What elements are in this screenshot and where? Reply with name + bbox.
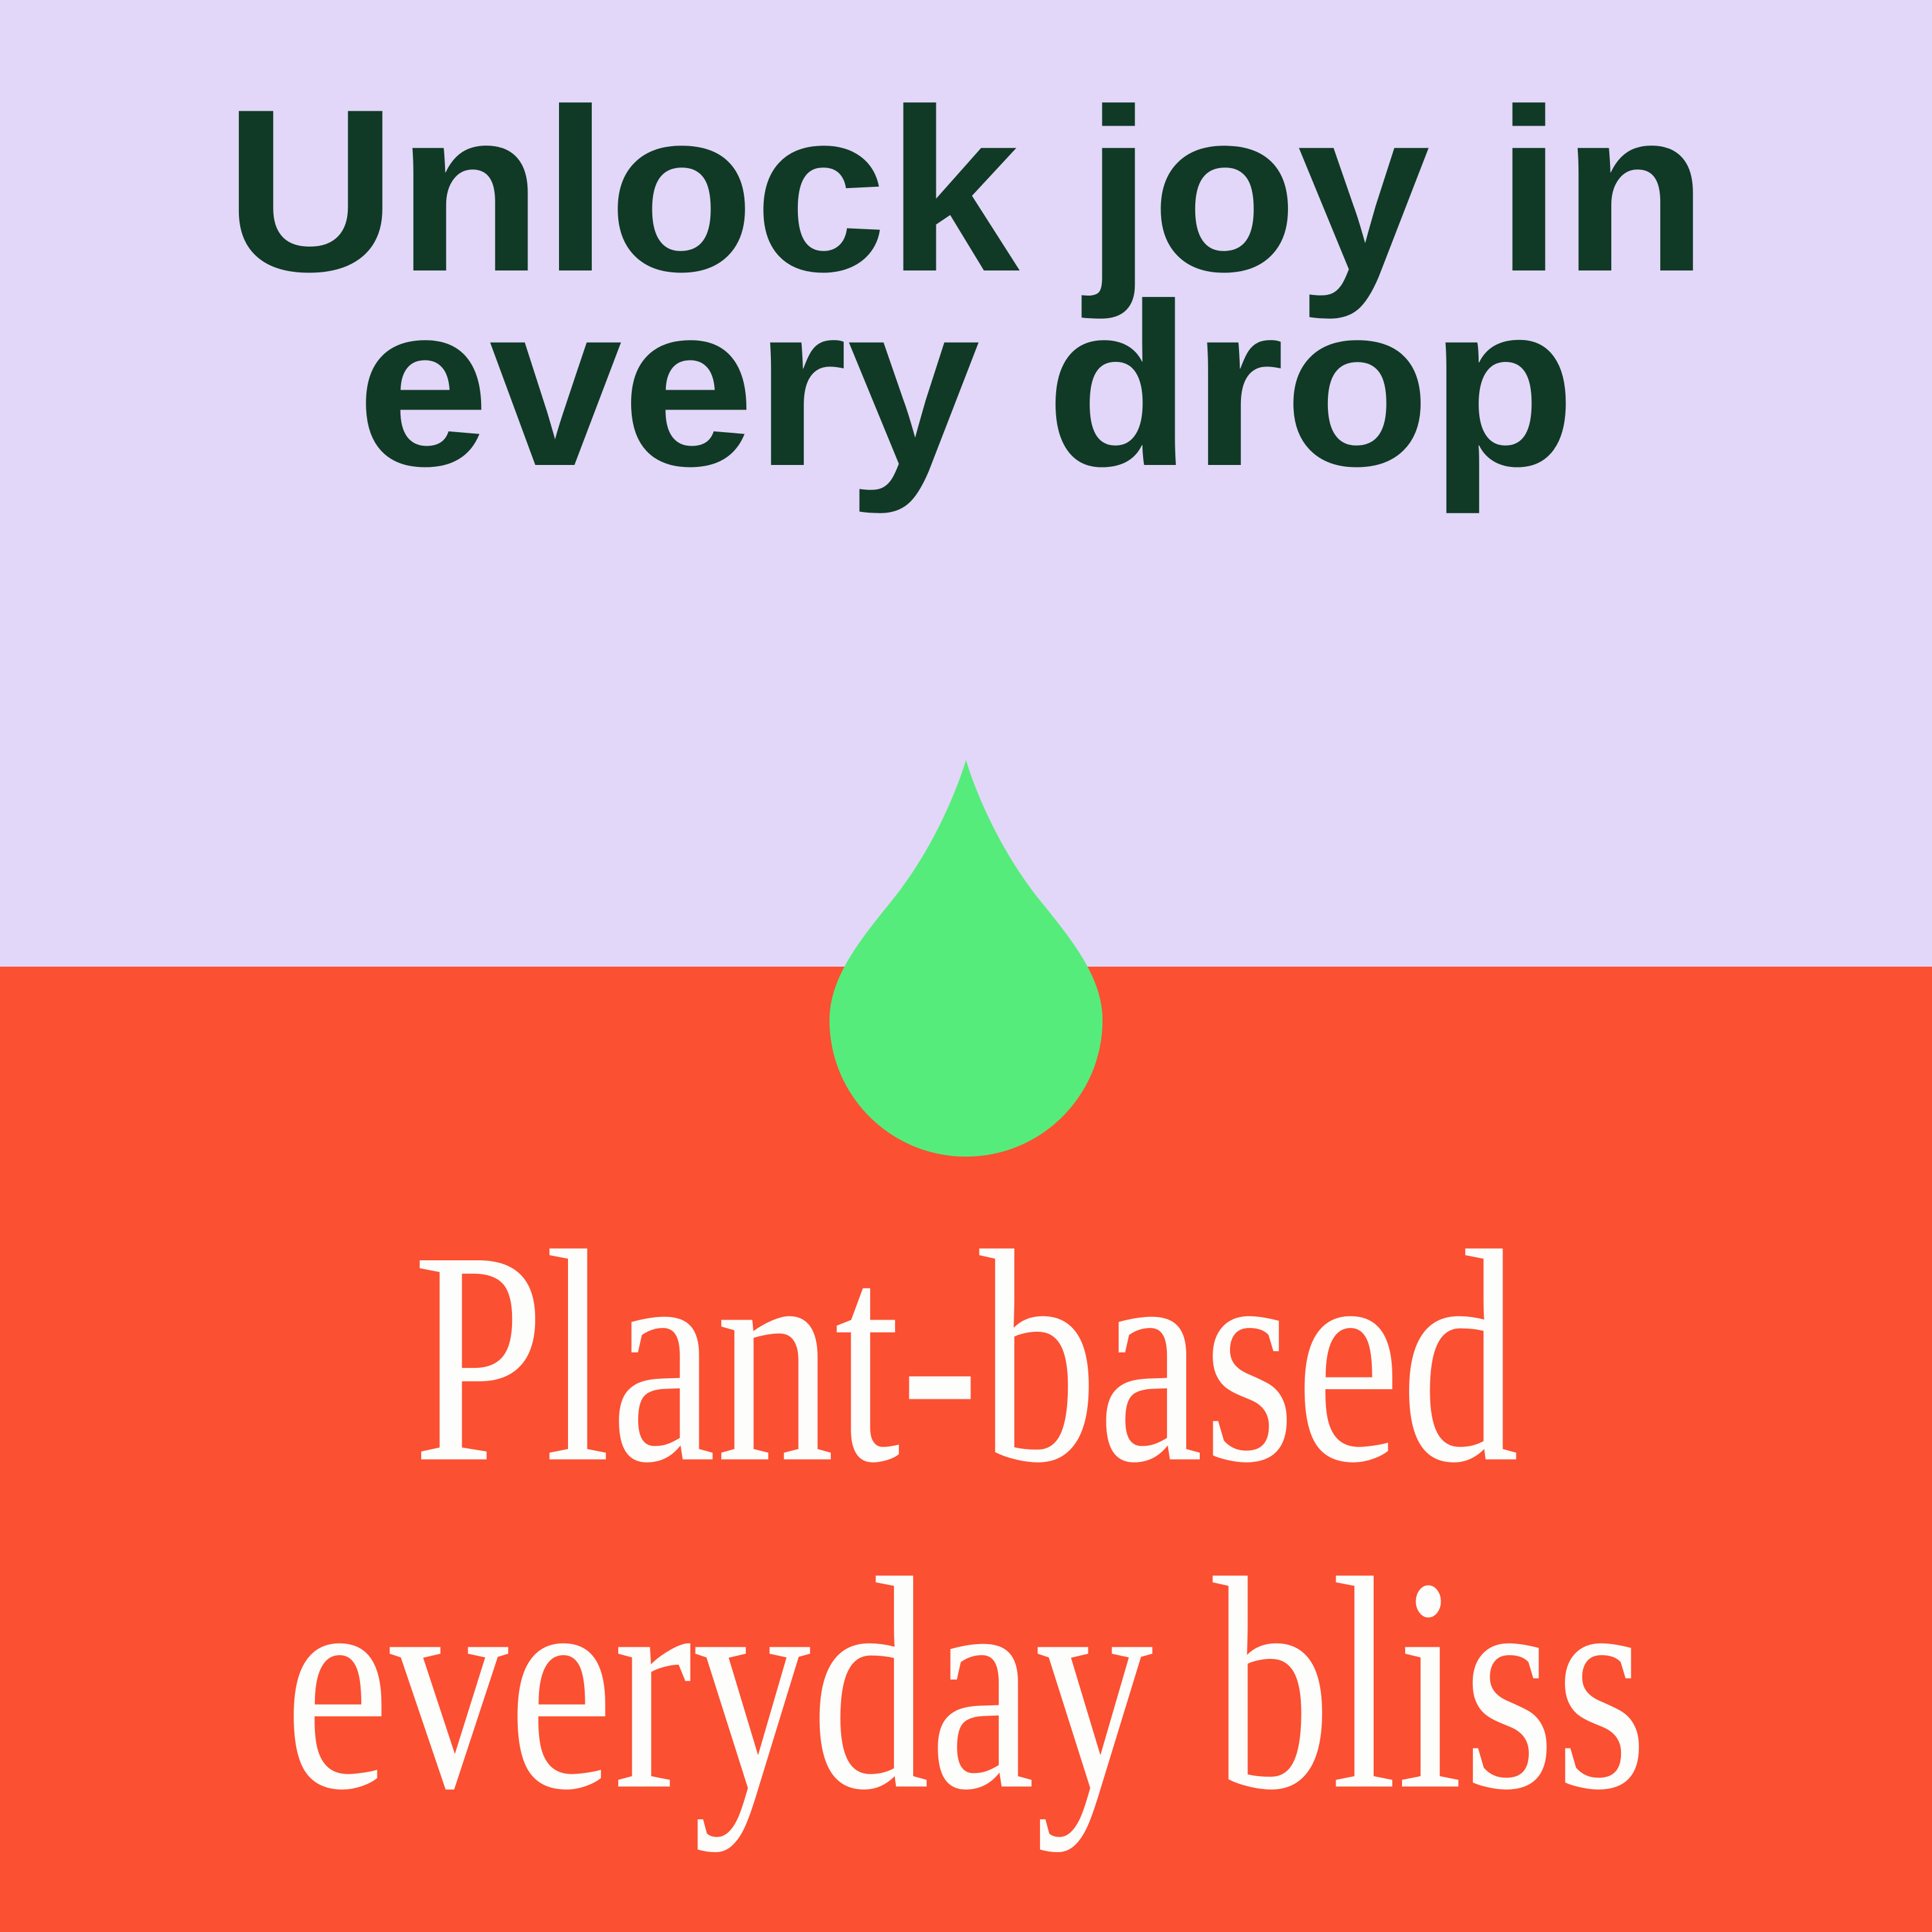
subhead-line-2: everyday bliss [77,1533,1855,1837]
subhead-line-1: Plant-based [77,1206,1855,1510]
headline-line-2: every drop [0,269,1932,501]
water-droplet-shape [829,760,1103,1157]
poster-canvas: Unlock joy in every drop Plant-based eve… [0,0,1932,1932]
water-droplet-icon [829,760,1103,1157]
